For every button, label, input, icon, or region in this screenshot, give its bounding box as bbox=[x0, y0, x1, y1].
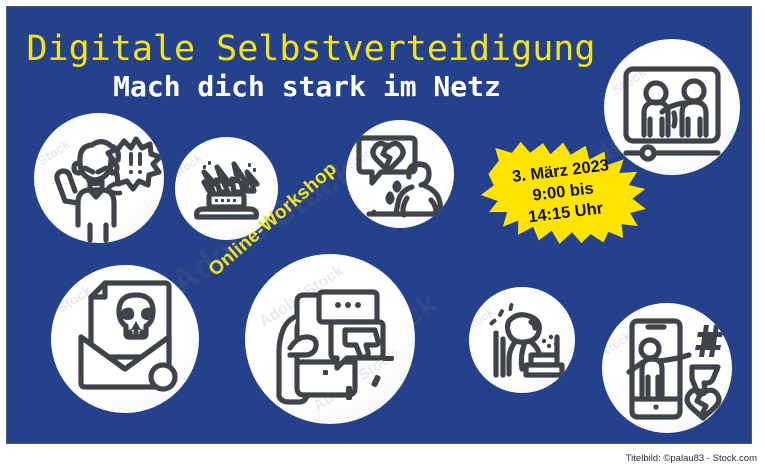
skull-letter-envelope-icon bbox=[51, 265, 199, 413]
page-title: Digitale Selbstverteidigung bbox=[7, 29, 615, 69]
date-badge: 3. März 2023 9:00 bis 14:15 Uhr bbox=[473, 125, 653, 257]
poster-image: Adobe Stock Adobe Stock Adobe Stock Digi… bbox=[6, 6, 752, 444]
icon-circle-phone-person-hashtag: Stock Stock bbox=[602, 303, 732, 433]
date-badge-text: 3. März 2023 9:00 bis 14:15 Uhr bbox=[473, 125, 653, 257]
icon-circle-hand-phone: Adobe Stock Adobe Stock bbox=[245, 254, 415, 424]
icon-circle-skull-envelope: Stock bbox=[51, 265, 199, 413]
icon-circle-angry-person: Stock bbox=[34, 113, 164, 243]
angry-person-shouting-icon bbox=[34, 113, 164, 243]
icon-circle-sad-person: Stock bbox=[346, 120, 454, 228]
page-subtitle: Mach dich stark im Netz bbox=[7, 70, 607, 104]
phone-person-hashtag-icon bbox=[602, 303, 732, 433]
image-credit: Titelbild: ©palau83 - Stock.com bbox=[626, 453, 757, 464]
sad-person-broken-heart-icon bbox=[346, 120, 454, 228]
poster-page: Adobe Stock Adobe Stock Adobe Stock Digi… bbox=[0, 0, 765, 471]
stressed-person-laptop-icon bbox=[469, 287, 575, 393]
hand-phone-thumbsdown-icon bbox=[245, 254, 415, 424]
icon-circle-stressed-person: Stock bbox=[469, 287, 575, 393]
